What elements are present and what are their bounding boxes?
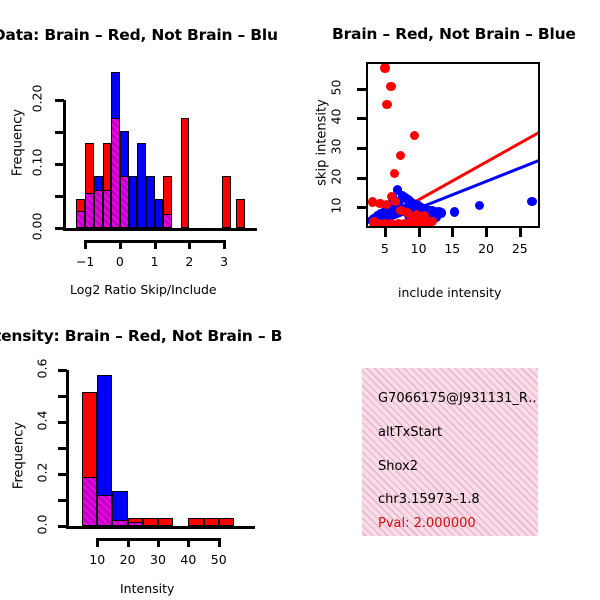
scatter-x-axis-tick-label: 15: [436, 241, 468, 256]
y-axis-tick-label: 0.6: [35, 351, 50, 387]
y-axis-tick: [58, 369, 67, 372]
scatter-x-axis-tick: [384, 228, 387, 237]
y-axis-tick-label: 0.4: [35, 403, 50, 439]
info-event-type: altTxStart: [378, 425, 442, 440]
scatter-x-axis-tick-label: 20: [470, 241, 502, 256]
y-axis-tick: [58, 447, 67, 450]
histogram-bar-overlap: [82, 477, 97, 526]
y-axis-tick: [55, 227, 64, 230]
scatter-point-brain: [402, 208, 411, 217]
y-axis-tick: [58, 499, 67, 502]
histogram-bar-overlap: [112, 520, 127, 526]
histogram-baseline: [63, 228, 257, 231]
histogram-bar-overlap: [94, 190, 103, 228]
ratio-histogram-plot-area: 0.000.100.20−10123: [0, 0, 300, 300]
scatter-y-axis-tick-label: 20: [329, 160, 344, 192]
scatter-y-axis-tick: [357, 88, 366, 91]
histogram-bar-blue: [146, 176, 155, 228]
scatter-y-axis-tick-label: 10: [329, 190, 344, 222]
histogram-bar-blue: [129, 176, 138, 228]
scatter-point-brain: [386, 82, 395, 91]
x-axis-tick-label: 50: [201, 552, 237, 567]
y-axis-tick-label: 0.2: [35, 455, 50, 491]
histogram-bar-overlap: [120, 176, 129, 228]
x-axis-tick: [157, 538, 160, 547]
scatter-point-brain: [382, 200, 391, 209]
histogram-bar-overlap: [111, 118, 120, 228]
scatter-x-axis-tick-label: 10: [403, 241, 435, 256]
histogram-bar-red: [222, 176, 231, 228]
x-axis-tick: [223, 240, 226, 249]
x-axis-tick-label: 2: [173, 254, 205, 269]
panel-intensity-histogram: ne Itensity: Brain – Red, Not Brain – B …: [0, 300, 300, 600]
scatter-y-axis-tick-label: 50: [329, 71, 344, 103]
histogram-bar-overlap: [76, 211, 85, 228]
scatter-x-axis-tick: [519, 228, 522, 237]
scatter-y-axis-tick: [357, 147, 366, 150]
x-axis-tick: [119, 240, 122, 249]
scatter-y-axis-tick-label: 40: [329, 101, 344, 133]
info-probe-id: G7066175@J931131_R…: [378, 391, 538, 406]
x-axis-tick-label: −1: [69, 254, 101, 269]
histogram-bar-red: [188, 518, 203, 526]
scatter-x-axis-tick: [485, 228, 488, 237]
x-axis-tick: [187, 538, 190, 547]
figure-canvas: RatioData: Brain – Red, Not Brain – Blu …: [0, 0, 600, 600]
gene-info-box: G7066175@J931131_R… altTxStart Shox2 chr…: [362, 368, 538, 536]
info-pvalue: Pval: 2.000000: [378, 516, 476, 531]
scatter-x-axis-tick: [451, 228, 454, 237]
histogram-bar-overlap: [103, 190, 112, 228]
panel-info: G7066175@J931131_R… altTxStart Shox2 chr…: [300, 300, 600, 600]
histogram-bar-red: [158, 518, 173, 526]
histogram-bar-overlap: [97, 495, 112, 526]
histogram-bar-red: [143, 518, 158, 526]
panel-intensity-scatter: Brain – Red, Not Brain – Blue skip inten…: [300, 0, 600, 300]
panel-ratio-histogram: RatioData: Brain – Red, Not Brain – Blu …: [0, 0, 300, 300]
scatter-point-not-brain: [475, 201, 484, 210]
y-axis-tick-label: 0.00: [30, 207, 45, 247]
histogram-bar-red: [204, 518, 219, 526]
y-axis-tick: [55, 99, 64, 102]
scatter-point-not-brain: [437, 208, 446, 217]
scatter-x-axis-tick-label: 5: [369, 241, 401, 256]
x-axis-tick-label: 3: [208, 254, 240, 269]
scatter-point-brain: [427, 217, 436, 226]
x-axis-tick: [218, 538, 221, 547]
info-gene-symbol: Shox2: [378, 459, 418, 474]
y-axis-tick: [58, 421, 67, 424]
scatter-point-brain: [390, 169, 399, 178]
histogram-bar-red: [236, 199, 245, 228]
x-axis-tick-label: 1: [139, 254, 171, 269]
x-axis-tick: [188, 240, 191, 249]
scatter-y-axis-tick-label: 30: [329, 130, 344, 162]
x-axis-tick-label: 0: [104, 254, 136, 269]
y-axis-tick: [58, 395, 67, 398]
y-axis-tick: [58, 473, 67, 476]
scatter-point-brain: [396, 151, 405, 160]
intensity-histogram-plot-area: 0.00.20.40.61020304050: [0, 300, 300, 600]
scatter-clip: [368, 64, 538, 226]
scatter-y-axis-tick: [357, 117, 366, 120]
scatter-point-brain: [410, 131, 419, 140]
y-axis-tick-label: 0.10: [30, 143, 45, 183]
info-locus: chr3.15973–1.8: [378, 492, 480, 507]
y-axis-tick: [55, 195, 64, 198]
y-axis-tick-label: 0.0: [35, 507, 50, 543]
scatter-point-brain: [382, 100, 391, 109]
scatter-x-axis-tick: [418, 228, 421, 237]
histogram-bar-red: [181, 118, 190, 228]
scatter-y-axis-tick: [357, 177, 366, 180]
histogram-bar-overlap: [163, 214, 172, 228]
x-axis-tick: [84, 240, 87, 249]
scatter-point-brain: [380, 64, 389, 73]
scatter-plot-area: 1020304050510152025: [300, 0, 600, 300]
x-axis-tick: [154, 240, 157, 249]
histogram-bar-overlap: [85, 193, 94, 228]
y-axis-tick: [58, 525, 67, 528]
scatter-point-not-brain: [450, 207, 459, 216]
scatter-point-not-brain: [527, 197, 536, 206]
histogram-bar-red: [219, 518, 234, 526]
histogram-bar-blue: [155, 199, 164, 228]
x-axis-tick: [96, 538, 99, 547]
scatter-x-axis-tick-label: 25: [504, 241, 536, 256]
y-axis-tick-label: 0.20: [30, 79, 45, 119]
y-axis-tick: [55, 163, 64, 166]
y-axis-tick: [55, 131, 64, 134]
x-axis-tick: [127, 538, 130, 547]
histogram-bar-blue: [137, 143, 146, 228]
scatter-y-axis-tick: [357, 206, 366, 209]
histogram-baseline: [66, 526, 255, 529]
